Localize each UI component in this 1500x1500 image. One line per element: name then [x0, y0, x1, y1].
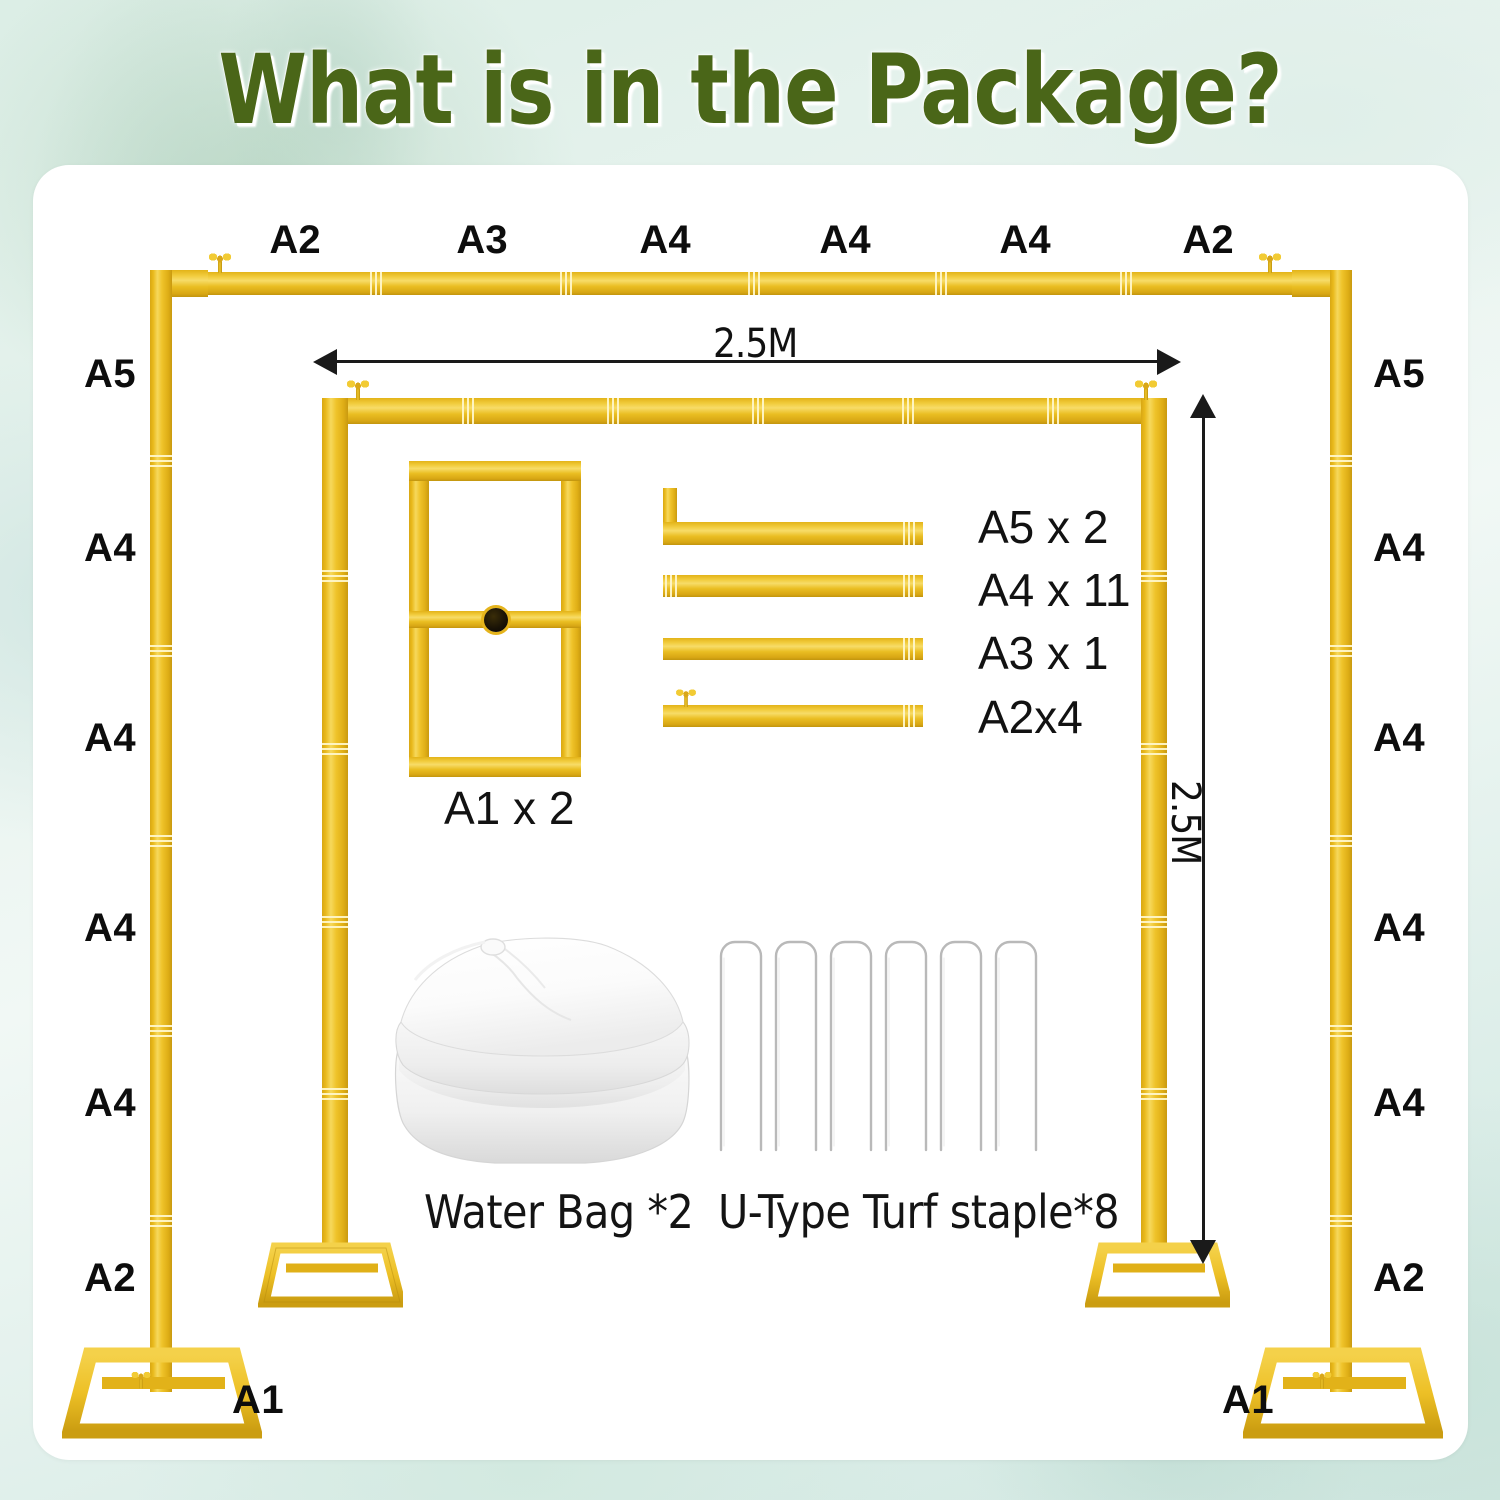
- a1-frame-label: A1 x 2: [444, 781, 574, 835]
- left-segment-label-4: A4: [84, 1081, 136, 1126]
- water-bag-illustration: [385, 920, 695, 1170]
- top-segment-label-1: A3: [456, 218, 507, 263]
- outer-top-bar: [205, 272, 1295, 295]
- right-segment-label-3: A4: [1373, 906, 1425, 951]
- turf-staple-label: U-Type Turf staple*8: [718, 1185, 1119, 1239]
- left-segment-label-0: A5: [84, 352, 136, 397]
- a1-frame-hub: [484, 608, 508, 632]
- part-label-a2: A2x4: [978, 690, 1083, 744]
- water-bag-label: Water Bag *2: [424, 1185, 693, 1239]
- right-segment-label-0: A5: [1373, 352, 1425, 397]
- left-segment-label-1: A4: [84, 526, 136, 571]
- width-dimension-label: 2.5M: [713, 321, 797, 367]
- left-segment-label-2: A4: [84, 716, 136, 761]
- thumb-screw-inner-right: [1135, 380, 1157, 400]
- outer-left-post: [150, 270, 172, 1392]
- part-label-a4: A4 x 11: [978, 563, 1131, 617]
- a1-frame-part: [409, 461, 581, 777]
- thumb-screw-top-right: [1259, 253, 1281, 273]
- top-segment-label-2: A4: [639, 218, 690, 263]
- right-segment-label-1: A4: [1373, 526, 1425, 571]
- inner-left-post: [322, 398, 348, 1248]
- left-segment-label-3: A4: [84, 906, 136, 951]
- thumb-screw-top-left: [209, 253, 231, 273]
- top-segment-label-4: A4: [999, 218, 1050, 263]
- thumb-screw-inner-left: [347, 380, 369, 400]
- height-arrow-up: [1190, 394, 1216, 418]
- turf-staple-illustration: [715, 928, 1075, 1158]
- width-arrow-left: [313, 349, 337, 375]
- right-base-label: A1: [1222, 1378, 1274, 1423]
- outer-right-post: [1330, 270, 1352, 1392]
- height-arrow-down: [1190, 1240, 1216, 1264]
- right-segment-label-2: A4: [1373, 716, 1425, 761]
- inner-top-bar: [322, 398, 1167, 424]
- page-title: What is in the Package?: [53, 34, 1448, 146]
- top-segment-label-3: A4: [819, 218, 870, 263]
- top-segment-label-5: A2: [1182, 218, 1233, 263]
- left-segment-label-5: A2: [84, 1256, 136, 1301]
- thumb-screw-base-right: [1313, 1372, 1332, 1389]
- right-segment-label-4: A4: [1373, 1081, 1425, 1126]
- top-segment-label-0: A2: [269, 218, 320, 263]
- base-inner-left: [258, 1238, 403, 1320]
- height-dimension-label: 2.5M: [1162, 780, 1208, 864]
- right-segment-label-5: A2: [1373, 1256, 1425, 1301]
- part-label-a5: A5 x 2: [978, 500, 1108, 554]
- left-base-label: A1: [232, 1378, 284, 1423]
- thumb-screw-base-left: [132, 1372, 151, 1389]
- part-label-a3: A3 x 1: [978, 626, 1108, 680]
- width-arrow-right: [1157, 349, 1181, 375]
